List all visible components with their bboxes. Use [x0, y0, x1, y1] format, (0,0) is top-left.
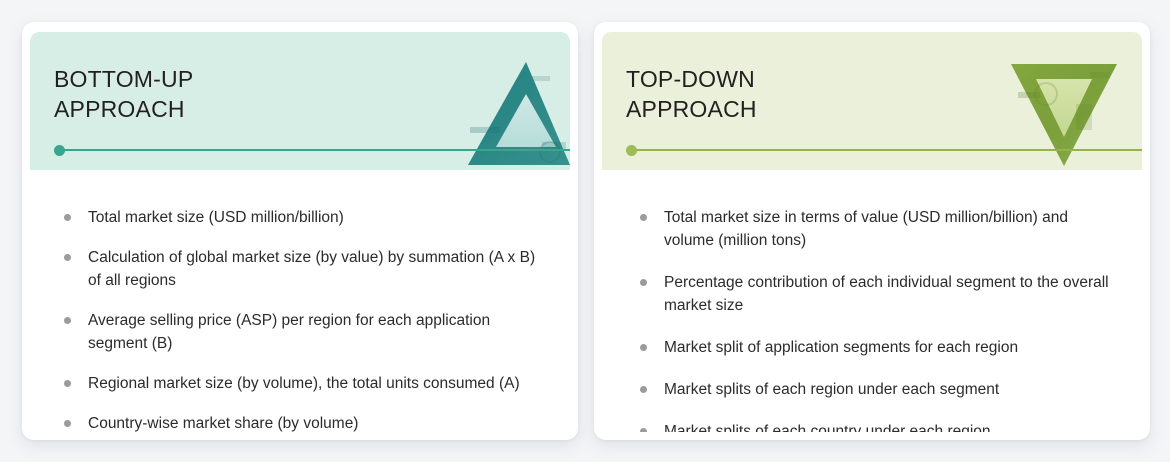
list-item: Country-wise market share (by volume) — [56, 412, 550, 432]
list-item: Market splits of each region under each … — [632, 378, 1122, 401]
card-inner-bottom-up: BOTTOM-UP APPROACH — [30, 32, 570, 432]
infographic-stage: BOTTOM-UP APPROACH — [0, 0, 1170, 462]
list-item: Market split of application segments for… — [632, 336, 1122, 359]
card-inner-top-down: TOP-DOWN APPROACH — [602, 32, 1142, 432]
card-top-down: TOP-DOWN APPROACH — [594, 22, 1150, 440]
bullet-list-bottom-up: Total market size (USD million/billion) … — [56, 206, 550, 432]
card-title-bottom-up: BOTTOM-UP APPROACH — [54, 64, 193, 124]
divider-line — [59, 149, 570, 151]
header-divider-top-down — [626, 145, 1142, 156]
list-item: Market splits of each country under each… — [632, 420, 1122, 432]
card-title-top-down: TOP-DOWN APPROACH — [626, 64, 757, 124]
bullet-list-top-down: Total market size in terms of value (USD… — [632, 206, 1122, 432]
card-body-bottom-up: Total market size (USD million/billion) … — [30, 170, 570, 432]
header-divider-bottom-up — [54, 145, 570, 156]
list-item: Average selling price (ASP) per region f… — [56, 309, 550, 355]
divider-line — [631, 149, 1142, 151]
list-item: Percentage contribution of each individu… — [632, 271, 1122, 317]
list-item: Regional market size (by volume), the to… — [56, 372, 550, 395]
list-item: Total market size (USD million/billion) — [56, 206, 550, 229]
card-body-top-down: Total market size in terms of value (USD… — [602, 170, 1142, 432]
divider-dot — [54, 145, 65, 156]
card-header-top-down: TOP-DOWN APPROACH — [602, 32, 1142, 170]
card-bottom-up: BOTTOM-UP APPROACH — [22, 22, 578, 440]
list-item: Total market size in terms of value (USD… — [632, 206, 1122, 252]
list-item: Calculation of global market size (by va… — [56, 246, 550, 292]
card-header-bottom-up: BOTTOM-UP APPROACH — [30, 32, 570, 170]
divider-dot — [626, 145, 637, 156]
